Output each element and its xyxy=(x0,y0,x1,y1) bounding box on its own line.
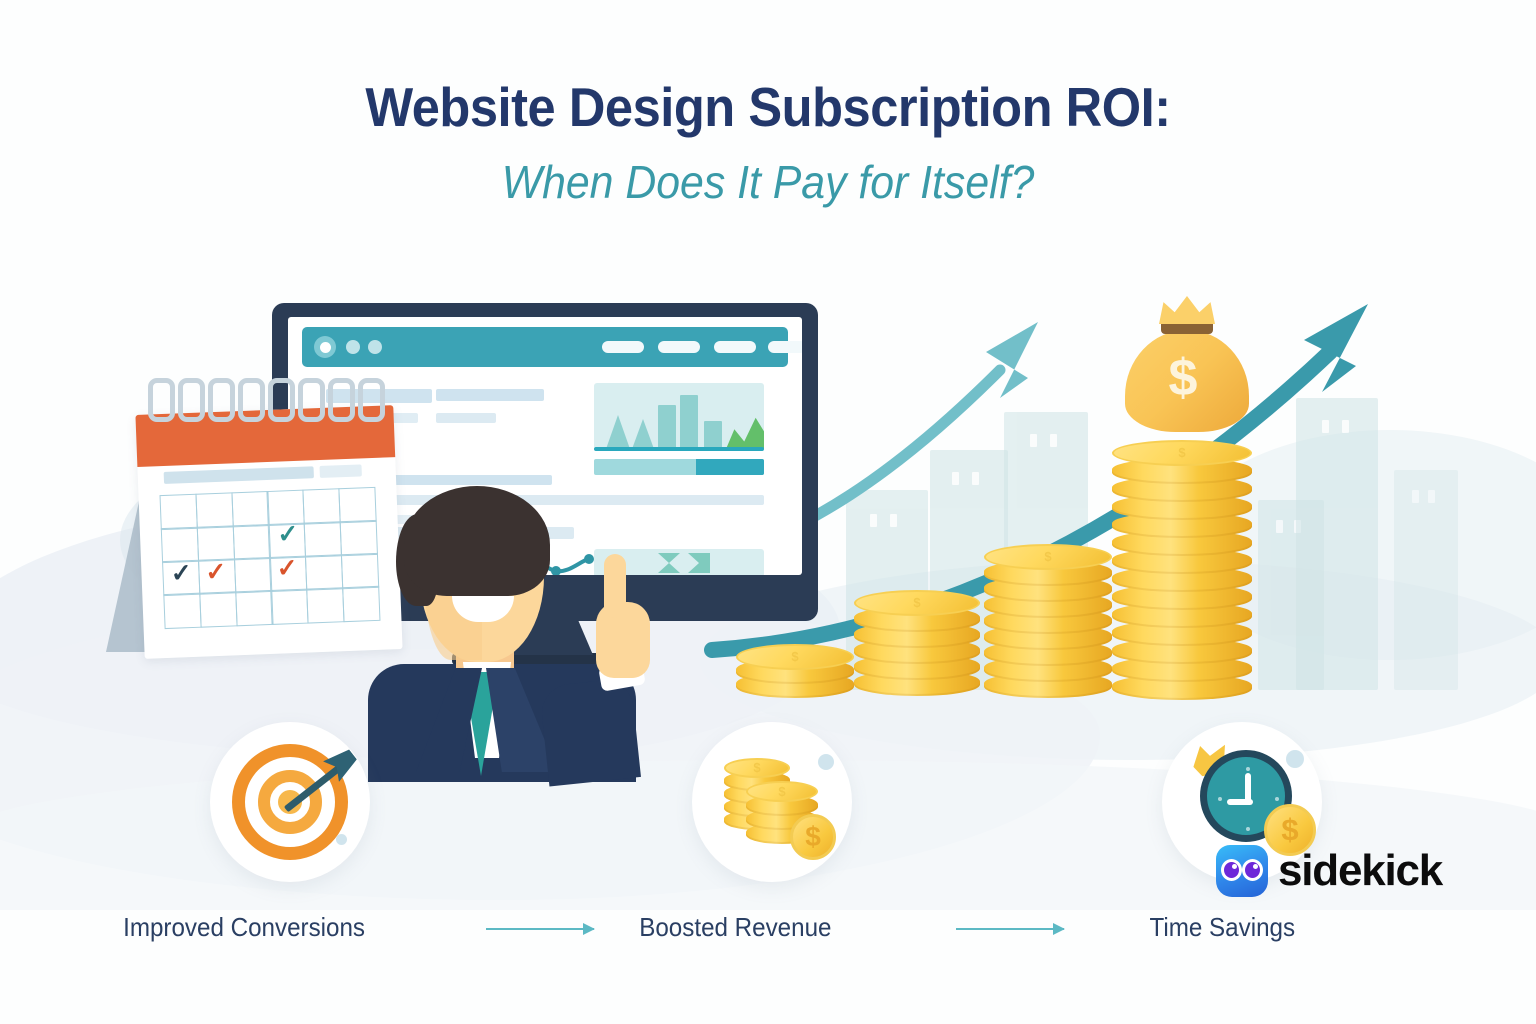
calendar-cell-checked[interactable]: ✓ xyxy=(198,559,236,595)
browser-dot-3 xyxy=(368,340,382,354)
calendar-cell[interactable] xyxy=(197,526,235,562)
step-icon-circle-2: $ xyxy=(692,722,852,882)
calendar-cell[interactable] xyxy=(231,491,269,527)
money-bag-top xyxy=(1159,296,1215,324)
coin-stack-4 xyxy=(1112,418,1252,700)
check-icon: ✓ xyxy=(205,560,227,586)
headline-block: Website Design Subscription ROI: When Do… xyxy=(0,78,1536,208)
decor-dot xyxy=(336,834,347,845)
calendar-cell[interactable] xyxy=(199,592,237,628)
nav-pill-1[interactable] xyxy=(602,341,644,353)
coin-top xyxy=(1112,440,1252,466)
brand-logo[interactable]: sidekick xyxy=(1216,845,1442,897)
calendar-body: ✓ ✓ ✓ ✓ xyxy=(135,405,402,659)
decor-dot xyxy=(1286,750,1304,768)
coin-stack-3 xyxy=(984,528,1112,698)
calendar-cell[interactable] xyxy=(195,493,233,529)
calendar-cell-checked[interactable]: ✓ xyxy=(268,523,306,559)
content-block-3 xyxy=(436,389,544,401)
coin-top xyxy=(746,781,818,802)
page-title: Website Design Subscription ROI: xyxy=(61,78,1474,137)
mascot-eye-right xyxy=(1242,859,1263,881)
clock-tick xyxy=(1246,767,1250,771)
clock-tick xyxy=(1246,827,1250,831)
browser-toolbar[interactable] xyxy=(302,327,788,367)
calendar-year-bar xyxy=(320,464,362,478)
calendar-cell[interactable] xyxy=(160,494,198,530)
calendar-cell[interactable] xyxy=(164,593,202,629)
infographic-canvas: Website Design Subscription ROI: When Do… xyxy=(0,0,1536,1024)
raised-arm xyxy=(539,677,641,786)
calendar-cell-checked[interactable]: ✓ xyxy=(269,556,307,592)
check-icon: ✓ xyxy=(170,561,192,587)
calendar-spiral-ring xyxy=(208,378,235,422)
nav-pill-3[interactable] xyxy=(714,341,756,353)
calendar-spiral-ring xyxy=(358,378,385,422)
calendar-cell[interactable] xyxy=(235,590,273,626)
calendar-cell[interactable] xyxy=(271,589,309,625)
money-bag-icon: $ xyxy=(1121,296,1253,432)
calendar-grid: ✓ ✓ ✓ ✓ xyxy=(161,488,380,628)
clock-tick xyxy=(1218,797,1222,801)
calendar: ✓ ✓ ✓ ✓ xyxy=(112,392,400,660)
calendar-spiral-ring xyxy=(238,378,265,422)
coin-top xyxy=(854,590,980,616)
widget-baseline xyxy=(594,447,764,451)
calendar-cell[interactable] xyxy=(302,489,340,525)
nav-pill-2[interactable] xyxy=(658,341,700,353)
widget-progress-bar xyxy=(594,459,764,475)
browser-dot-2 xyxy=(346,340,360,354)
calendar-spiral-ring xyxy=(298,378,325,422)
dollar-coin-icon: $ xyxy=(790,814,836,860)
clock-tick xyxy=(1275,797,1279,801)
check-icon: ✓ xyxy=(277,522,299,548)
calendar-cell-checked[interactable]: ✓ xyxy=(162,560,200,596)
coin-stack-1 xyxy=(736,628,854,698)
money-bag-dollar-symbol: $ xyxy=(1121,348,1245,408)
calendar-cell[interactable] xyxy=(161,527,199,563)
browser-dot-1 xyxy=(314,336,336,358)
calendar-spiral-ring xyxy=(268,378,295,422)
growth-arrow-bold-head xyxy=(1304,304,1368,392)
building-silhouette-6 xyxy=(1394,470,1458,690)
step-icon-circle-1 xyxy=(210,722,370,882)
check-icon: ✓ xyxy=(276,556,298,582)
step-label-2: Boosted Revenue xyxy=(639,912,831,943)
calendar-cell[interactable] xyxy=(306,588,344,624)
widget-bar-1 xyxy=(658,405,676,449)
sidekick-mascot-icon xyxy=(1216,845,1268,897)
page-subtitle: When Does It Pay for Itself? xyxy=(54,157,1482,208)
step-label-3: Time Savings xyxy=(1149,912,1295,943)
businessman-pointing-icon xyxy=(368,486,668,776)
clock-hour-hand xyxy=(1227,799,1253,805)
coin-top xyxy=(736,644,854,670)
mascot-eye-left xyxy=(1221,859,1242,881)
calendar-cell[interactable] xyxy=(304,522,342,558)
building-silhouette-5 xyxy=(1296,398,1378,690)
widget-bar-2 xyxy=(680,395,698,449)
widget-bar-3 xyxy=(704,421,722,449)
nav-pill-4[interactable] xyxy=(768,341,802,353)
hair xyxy=(404,486,550,596)
calendar-cell[interactable] xyxy=(232,524,270,560)
calendar-month-bar xyxy=(164,466,314,484)
calendar-cell[interactable] xyxy=(305,555,343,591)
growth-arrow-light-head xyxy=(986,322,1038,398)
decor-dot xyxy=(818,754,834,770)
coin-top xyxy=(724,758,790,778)
pointing-finger xyxy=(604,554,626,618)
calendar-spiral-ring xyxy=(178,378,205,422)
coin-stack-2 xyxy=(854,572,980,696)
calendar-spiral-ring xyxy=(148,378,175,422)
coin-top xyxy=(984,544,1112,570)
calendar-cell[interactable] xyxy=(234,557,272,593)
step-connector-arrow-1 xyxy=(486,928,594,930)
content-block-4 xyxy=(436,413,496,423)
step-connector-arrow-2 xyxy=(956,928,1064,930)
calendar-spiral-ring xyxy=(328,378,355,422)
brand-name: sidekick xyxy=(1278,846,1442,896)
step-label-1: Improved Conversions xyxy=(123,912,365,943)
